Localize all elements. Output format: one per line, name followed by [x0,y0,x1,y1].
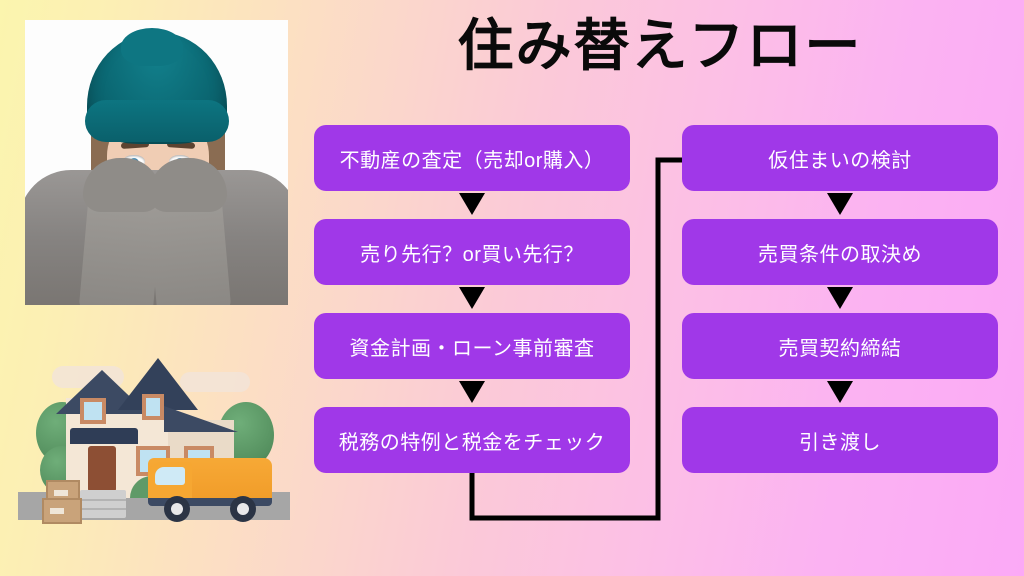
flow-box-label: 税務の特例と税金をチェック [339,426,606,455]
woman-photo [25,20,288,305]
flow-box-label: 引き渡し [799,426,881,455]
van-wheel [164,496,190,522]
triangle-down-icon [827,193,853,215]
triangle-down-icon [459,287,485,309]
window-icon [80,398,106,424]
box-label [54,490,68,496]
flow-box-right-3[interactable]: 売買契約締結 [682,313,998,379]
triangle-down-icon [459,193,485,215]
beanie-brim [85,100,229,142]
van-hubcap [237,503,249,515]
front-steps [80,490,126,518]
triangle-down-icon [827,381,853,403]
flow-box-label: 売買契約締結 [779,332,902,361]
roof-annex [164,406,238,432]
box-label [50,508,64,514]
van-wheel [230,496,256,522]
step-edge [80,499,126,501]
flow-box-label: 資金計画・ローン事前審査 [350,332,595,361]
flow-box-label: 不動産の査定（売却or購入） [340,144,605,173]
triangle-down-icon [827,287,853,309]
flow-box-label: 売買条件の取決め [758,238,922,267]
house-illustration [18,350,290,555]
flow-box-left-1[interactable]: 不動産の査定（売却or購入） [314,125,630,191]
flow-box-label: 売り先行？or買い先行？ [360,238,584,267]
window-icon [142,394,164,420]
flow-box-right-4[interactable]: 引き渡し [682,407,998,473]
triangle-down-icon [459,381,485,403]
beanie-top-knot [121,28,183,66]
flow-box-right-2[interactable]: 売買条件の取決め [682,219,998,285]
van-hubcap [171,503,183,515]
flow-box-left-2[interactable]: 売り先行？or買い先行？ [314,219,630,285]
flow-box-left-4[interactable]: 税務の特例と税金をチェック [314,407,630,473]
flow-box-right-1[interactable]: 仮住まいの検討 [682,125,998,191]
van-windshield [155,467,185,485]
porch-roof [70,428,138,444]
front-door [88,446,116,492]
step-edge [80,508,126,510]
slide-canvas: 住み替えフロー [0,0,1024,576]
flow-box-left-3[interactable]: 資金計画・ローン事前審査 [314,313,630,379]
moving-box-icon [42,498,82,524]
page-title: 住み替えフロー [310,14,1010,78]
flow-box-label: 仮住まいの検討 [768,144,912,173]
